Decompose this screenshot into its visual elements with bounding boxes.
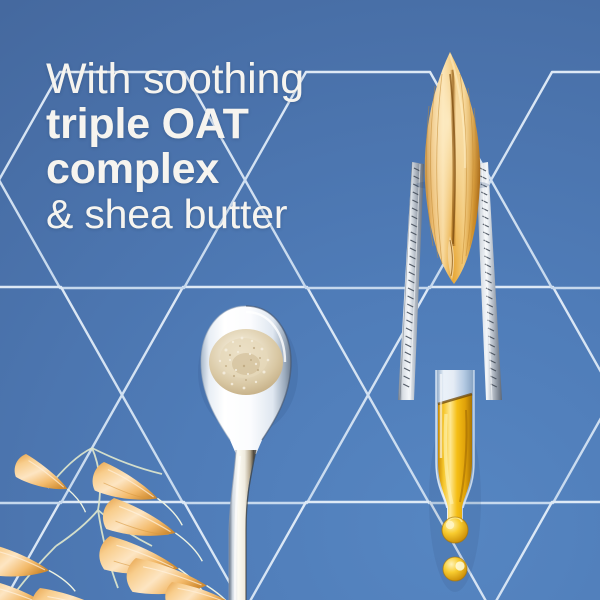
headline-line-1: With soothing bbox=[46, 58, 304, 102]
oil-droplet-hanging bbox=[442, 517, 468, 543]
headline-line-3: complex bbox=[46, 148, 304, 192]
oat-grain bbox=[415, 52, 489, 284]
oat-stalks bbox=[0, 440, 216, 600]
tweezer-arm-left bbox=[398, 162, 424, 400]
tweezers-with-oat-grain bbox=[370, 40, 540, 410]
oat-spikelet-group bbox=[0, 452, 238, 600]
oat-powder bbox=[209, 329, 283, 395]
headline-line-4: & shea butter bbox=[46, 194, 304, 236]
oil-droplet-falling bbox=[443, 557, 467, 581]
tweezer-arm-right bbox=[476, 162, 502, 400]
advertisement-canvas: With soothing triple OAT complex & shea … bbox=[0, 0, 600, 600]
headline: With soothing triple OAT complex & shea … bbox=[46, 58, 304, 235]
headline-line-2: triple OAT bbox=[46, 103, 304, 147]
